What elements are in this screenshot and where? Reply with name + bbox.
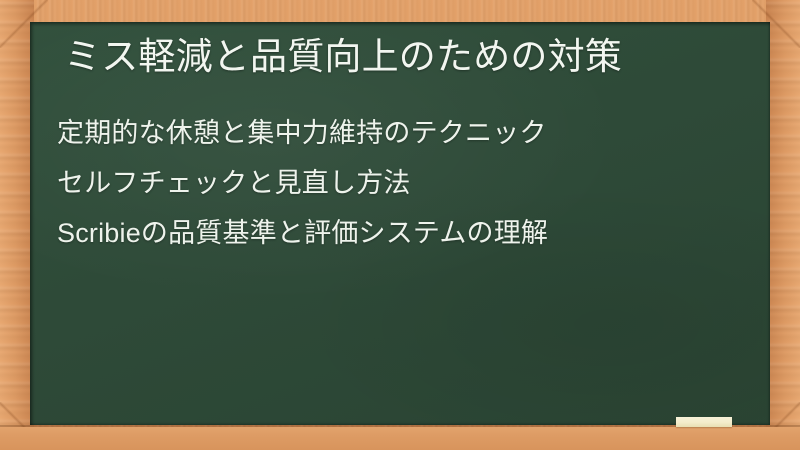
wooden-frame-right-rail (766, 0, 800, 450)
list-item: Scribieの品質基準と評価システムの理解 (57, 208, 750, 258)
list-item: 定期的な休憩と集中力維持のテクニック (57, 108, 750, 158)
slide-bullet-list: 定期的な休憩と集中力維持のテクニック セルフチェックと見直し方法 Scribie… (57, 108, 750, 258)
chalk-ledge (0, 427, 800, 450)
chalkboard-surface: ミス軽減と品質向上のための対策 定期的な休憩と集中力維持のテクニック セルフチェ… (30, 22, 770, 425)
chalk-stick (676, 417, 732, 427)
list-item: セルフチェックと見直し方法 (57, 158, 750, 208)
slide-title: ミス軽減と品質向上のための対策 (64, 34, 622, 79)
chalkboard-slide: ミス軽減と品質向上のための対策 定期的な休憩と集中力維持のテクニック セルフチェ… (0, 0, 800, 450)
wooden-frame-left-rail (0, 0, 34, 450)
